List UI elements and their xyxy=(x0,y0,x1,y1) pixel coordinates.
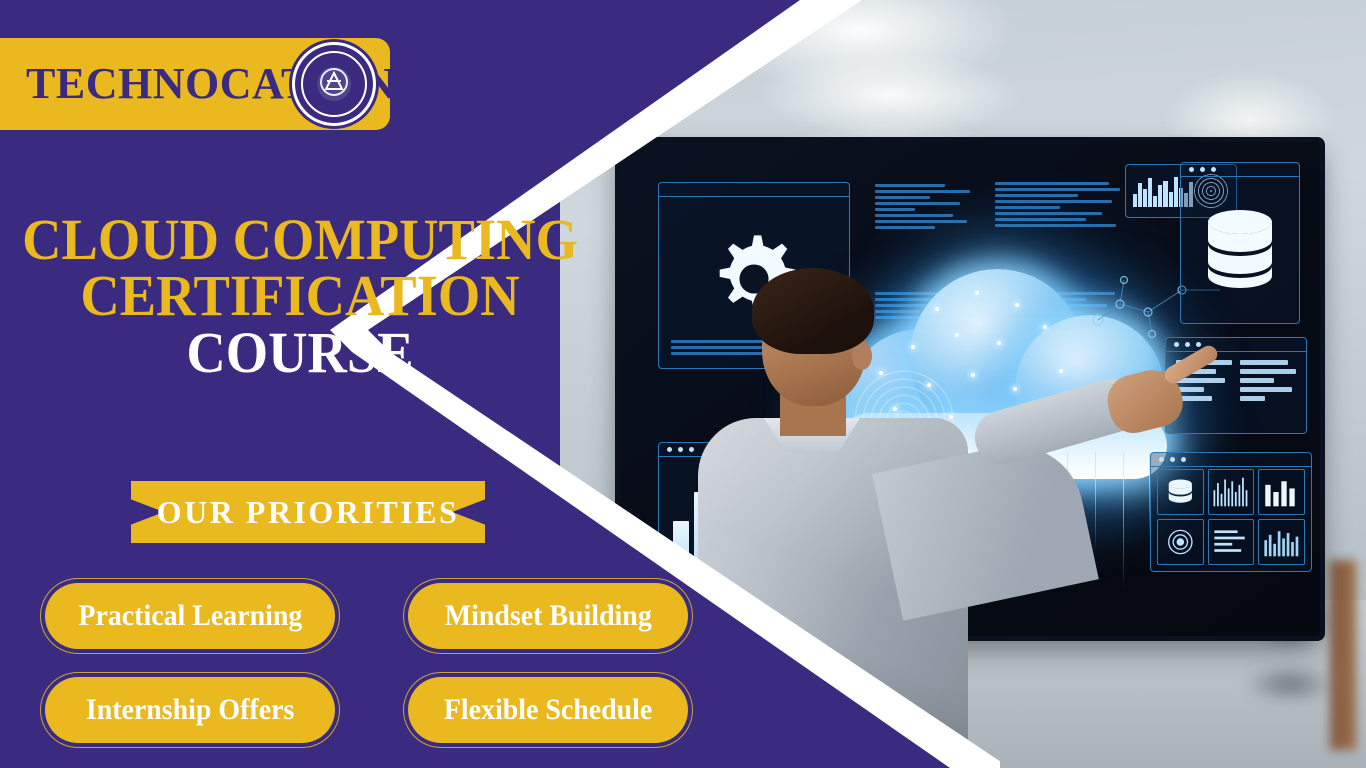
priority-pill-practical-learning[interactable]: Practical Learning xyxy=(45,583,335,649)
tile-waveform xyxy=(1208,469,1255,515)
priority-label: Internship Offers xyxy=(86,693,294,727)
tile-bar-chart xyxy=(1258,469,1305,515)
tile-text-lines xyxy=(1208,519,1255,565)
tile-gear xyxy=(1157,519,1204,565)
priority-label: Flexible Schedule xyxy=(444,693,652,727)
panel-titlebar xyxy=(1181,163,1299,177)
text-lines-panel xyxy=(1165,337,1307,434)
priority-label: Mindset Building xyxy=(444,599,651,633)
door-frame xyxy=(1330,560,1356,750)
headline: CLOUD COMPUTING CERTIFICATION COURSE xyxy=(0,212,600,381)
headline-line-1: CLOUD COMPUTING xyxy=(18,212,582,268)
priority-label: Practical Learning xyxy=(78,599,302,633)
priority-pill-mindset-building[interactable]: Mindset Building xyxy=(408,583,688,649)
our-priorities-ribbon: OUR PRIORITIES xyxy=(131,481,485,543)
promo-banner: TECHNOCATION CLOUD COMPUTING CERTIFICATI… xyxy=(0,0,1366,768)
panel-titlebar xyxy=(1151,453,1311,467)
logo-badge[interactable]: TECHNOCATION xyxy=(0,38,390,130)
tile-database xyxy=(1157,469,1204,515)
panel-titlebar xyxy=(1166,338,1306,352)
headline-line-3: COURSE xyxy=(18,325,582,381)
database-icon-panel xyxy=(1180,162,1300,324)
priority-pill-flexible-schedule[interactable]: Flexible Schedule xyxy=(408,677,688,743)
ribbon-label: OUR PRIORITIES xyxy=(131,481,485,543)
technocation-emblem-icon xyxy=(292,42,376,126)
headline-line-2: CERTIFICATION xyxy=(18,268,582,324)
panel-titlebar xyxy=(659,183,849,197)
tile-bar-chart-2 xyxy=(1258,519,1305,565)
hair xyxy=(752,268,874,354)
priority-pill-internship-offers[interactable]: Internship Offers xyxy=(45,677,335,743)
emblem-monogram xyxy=(314,64,354,104)
icon-tiles-grid xyxy=(1150,452,1312,572)
database-icon xyxy=(1201,206,1279,292)
